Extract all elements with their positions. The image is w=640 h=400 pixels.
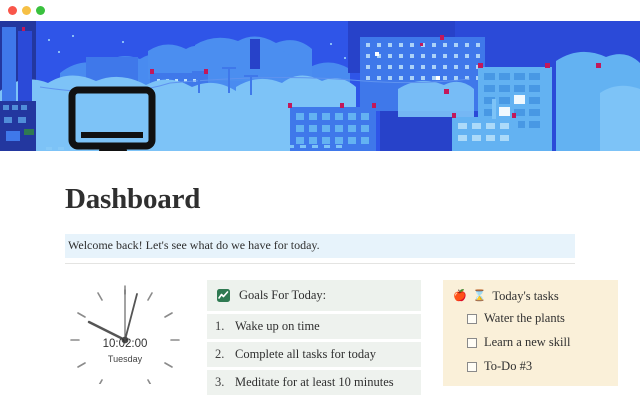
goal-number: 1. bbox=[215, 319, 228, 334]
clock-widget: 10:02:00 Tuesday bbox=[65, 280, 185, 384]
window-titlebar bbox=[0, 0, 640, 21]
goals-header: Goals For Today: bbox=[207, 280, 421, 311]
apple-icon: 🍎 bbox=[453, 291, 467, 302]
goals-header-label: Goals For Today: bbox=[239, 288, 326, 303]
task-checkbox[interactable] bbox=[467, 362, 477, 372]
page-banner bbox=[0, 21, 640, 151]
goals-widget: Goals For Today: 1. Wake up on time 2. C… bbox=[207, 280, 421, 395]
desktop-computer-icon bbox=[68, 86, 158, 151]
list-item[interactable]: 3. Meditate for at least 10 minutes bbox=[207, 370, 421, 395]
task-label: Water the plants bbox=[484, 311, 565, 326]
task-row[interactable]: To-Do #3 bbox=[467, 359, 608, 374]
tasks-header: 🍎 ⌛ Today's tasks bbox=[453, 289, 608, 304]
window-maximize-button[interactable] bbox=[36, 6, 45, 15]
tasks-widget: 🍎 ⌛ Today's tasks Water the plants Learn… bbox=[443, 280, 618, 386]
task-checkbox[interactable] bbox=[467, 314, 477, 324]
window-close-button[interactable] bbox=[8, 6, 17, 15]
widgets-row: 10:02:00 Tuesday Goals For Today: 1. Wak… bbox=[0, 280, 640, 395]
hourglass-icon: ⌛ bbox=[473, 291, 487, 302]
goal-label: Complete all tasks for today bbox=[235, 347, 376, 362]
tasks-header-label: Today's tasks bbox=[492, 289, 558, 304]
page-content: Dashboard Welcome back! Let's see what d… bbox=[0, 183, 640, 395]
clock-day-label: Tuesday bbox=[65, 354, 185, 364]
task-checkbox[interactable] bbox=[467, 338, 477, 348]
goal-number: 2. bbox=[215, 347, 228, 362]
chart-increasing-icon bbox=[217, 289, 230, 302]
list-item[interactable]: 1. Wake up on time bbox=[207, 314, 421, 339]
list-item[interactable]: 2. Complete all tasks for today bbox=[207, 342, 421, 367]
window-minimize-button[interactable] bbox=[22, 6, 31, 15]
task-label: Learn a new skill bbox=[484, 335, 570, 350]
clock-minute-hand bbox=[125, 294, 137, 340]
task-row[interactable]: Water the plants bbox=[467, 311, 608, 326]
welcome-callout: Welcome back! Let's see what do we have … bbox=[65, 234, 575, 258]
analog-clock bbox=[65, 280, 185, 384]
goals-list: 1. Wake up on time 2. Complete all tasks… bbox=[207, 314, 421, 395]
goal-label: Wake up on time bbox=[235, 319, 320, 334]
task-label: To-Do #3 bbox=[484, 359, 532, 374]
goal-number: 3. bbox=[215, 375, 228, 390]
goal-label: Meditate for at least 10 minutes bbox=[235, 375, 394, 390]
page-title: Dashboard bbox=[65, 183, 640, 216]
task-row[interactable]: Learn a new skill bbox=[467, 335, 608, 350]
section-divider bbox=[65, 263, 575, 264]
clock-digital-time: 10:02:00 bbox=[65, 338, 185, 350]
